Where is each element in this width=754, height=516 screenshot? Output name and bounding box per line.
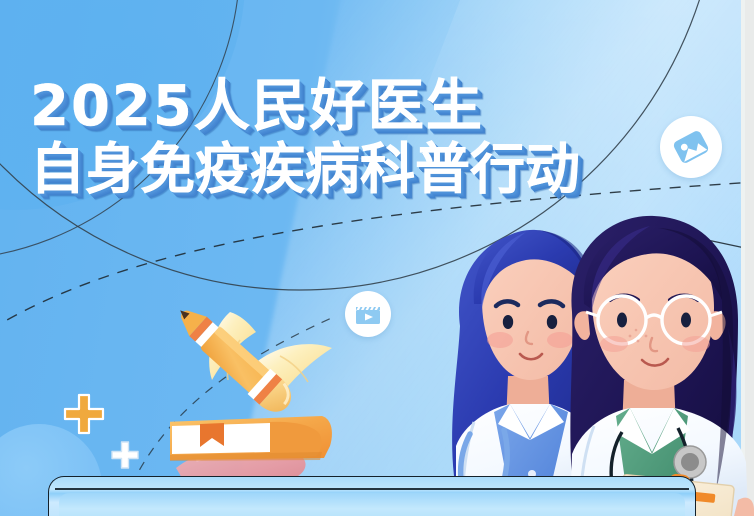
- poster-canvas: 2025人民好医生 自身免疫疾病科普行动: [0, 0, 754, 516]
- bottom-card-inner: [59, 493, 685, 516]
- video-icon-badge[interactable]: [345, 291, 391, 337]
- plus-decoration-white: [110, 440, 140, 470]
- poster-title: 2025人民好医生 自身免疫疾病科普行动: [30, 78, 580, 197]
- plus-decoration-orange: [62, 392, 106, 436]
- bottom-card: [48, 476, 696, 516]
- clapperboard-icon: [353, 299, 383, 329]
- winged-pencil-and-book-illustration: [170, 300, 345, 500]
- doctor-glasses: [570, 216, 754, 516]
- title-line-1: 2025人民好医生: [30, 78, 580, 135]
- title-line-2: 自身免疫疾病科普行动: [30, 141, 580, 197]
- open-book: [170, 416, 332, 461]
- doctors-illustration: [408, 208, 754, 516]
- photo-icon: [671, 127, 711, 167]
- photo-icon-badge[interactable]: [660, 116, 722, 178]
